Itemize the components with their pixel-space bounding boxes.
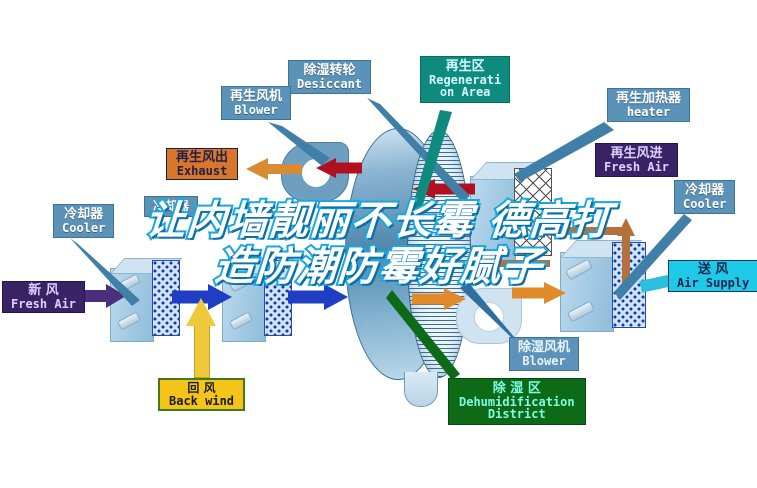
- label-desiccant-rotor-cn: 除湿转轮: [297, 64, 362, 78]
- label-fresh-air-in[interactable]: 新 风 Fresh Air: [2, 281, 85, 313]
- label-back-wind[interactable]: 回 风 Back wind: [158, 378, 245, 411]
- label-dehumidification-blower-en: Blower: [518, 355, 570, 368]
- label-cooler-left-a-cn: 冷却器: [62, 208, 105, 222]
- label-cooler-right-cn: 冷却器: [683, 184, 726, 198]
- label-exhaust-en: Exhaust: [176, 165, 228, 178]
- label-exhaust-cn: 再生风出: [176, 151, 228, 165]
- label-cooler-left-b-cn: 冷却器: [153, 200, 189, 213]
- label-dehumidification-district[interactable]: 除 湿 区 Dehumidification District: [448, 378, 586, 425]
- label-regeneration-area-cn: 再生区: [429, 60, 501, 74]
- label-regeneration-fresh-air-en: Fresh Air: [604, 161, 669, 174]
- leader-lines: [0, 0, 757, 488]
- label-regeneration-heater-cn: 再生加热器: [616, 92, 681, 106]
- label-dehumidification-blower-cn: 除湿风机: [518, 341, 570, 355]
- dehumidifier-principle-diagram: xt: [0, 0, 757, 488]
- label-cooler-left-b[interactable]: 冷却器: [144, 196, 198, 217]
- label-regeneration-heater[interactable]: 再生加热器 heater: [607, 88, 690, 122]
- label-dehumidification-district-cn: 除 湿 区: [459, 382, 575, 396]
- label-fresh-air-in-en: Fresh Air: [11, 298, 76, 311]
- label-regeneration-fresh-air-cn: 再生风进: [604, 147, 669, 161]
- label-regeneration-area-en2: on Area: [429, 86, 501, 99]
- label-air-supply-en: Air Supply: [677, 277, 749, 290]
- label-regeneration-blower[interactable]: 再生风机 Blower: [221, 86, 291, 120]
- label-desiccant-rotor-en: Desiccant: [297, 78, 362, 91]
- label-back-wind-en: Back wind: [169, 395, 234, 408]
- leader-dehum-district: [386, 290, 460, 380]
- label-regeneration-blower-en: Blower: [230, 104, 282, 117]
- label-back-wind-cn: 回 风: [169, 382, 234, 395]
- label-exhaust[interactable]: 再生风出 Exhaust: [166, 148, 238, 180]
- label-cooler-left-a[interactable]: 冷却器 Cooler: [53, 204, 114, 238]
- label-fresh-air-in-cn: 新 风: [11, 284, 76, 298]
- label-regeneration-heater-en: heater: [616, 106, 681, 119]
- label-dehumidification-district-en2: District: [459, 408, 575, 421]
- label-regeneration-area[interactable]: 再生区 Regenerati on Area: [420, 56, 510, 103]
- label-regeneration-fresh-air[interactable]: 再生风进 Fresh Air: [595, 143, 678, 177]
- leader-regen-blower: [268, 122, 330, 166]
- label-desiccant-rotor[interactable]: 除湿转轮 Desiccant: [288, 60, 371, 94]
- label-dehumidification-blower[interactable]: 除湿风机 Blower: [509, 337, 579, 371]
- label-air-supply-cn: 送 风: [677, 263, 749, 277]
- label-air-supply[interactable]: 送 风 Air Supply: [668, 260, 757, 292]
- leader-regen-area: [412, 110, 452, 214]
- label-cooler-right[interactable]: 冷却器 Cooler: [674, 180, 735, 214]
- label-cooler-right-en: Cooler: [683, 198, 726, 211]
- leader-dehum-blower: [460, 282, 520, 344]
- label-regeneration-blower-cn: 再生风机: [230, 90, 282, 104]
- label-cooler-left-a-en: Cooler: [62, 222, 105, 235]
